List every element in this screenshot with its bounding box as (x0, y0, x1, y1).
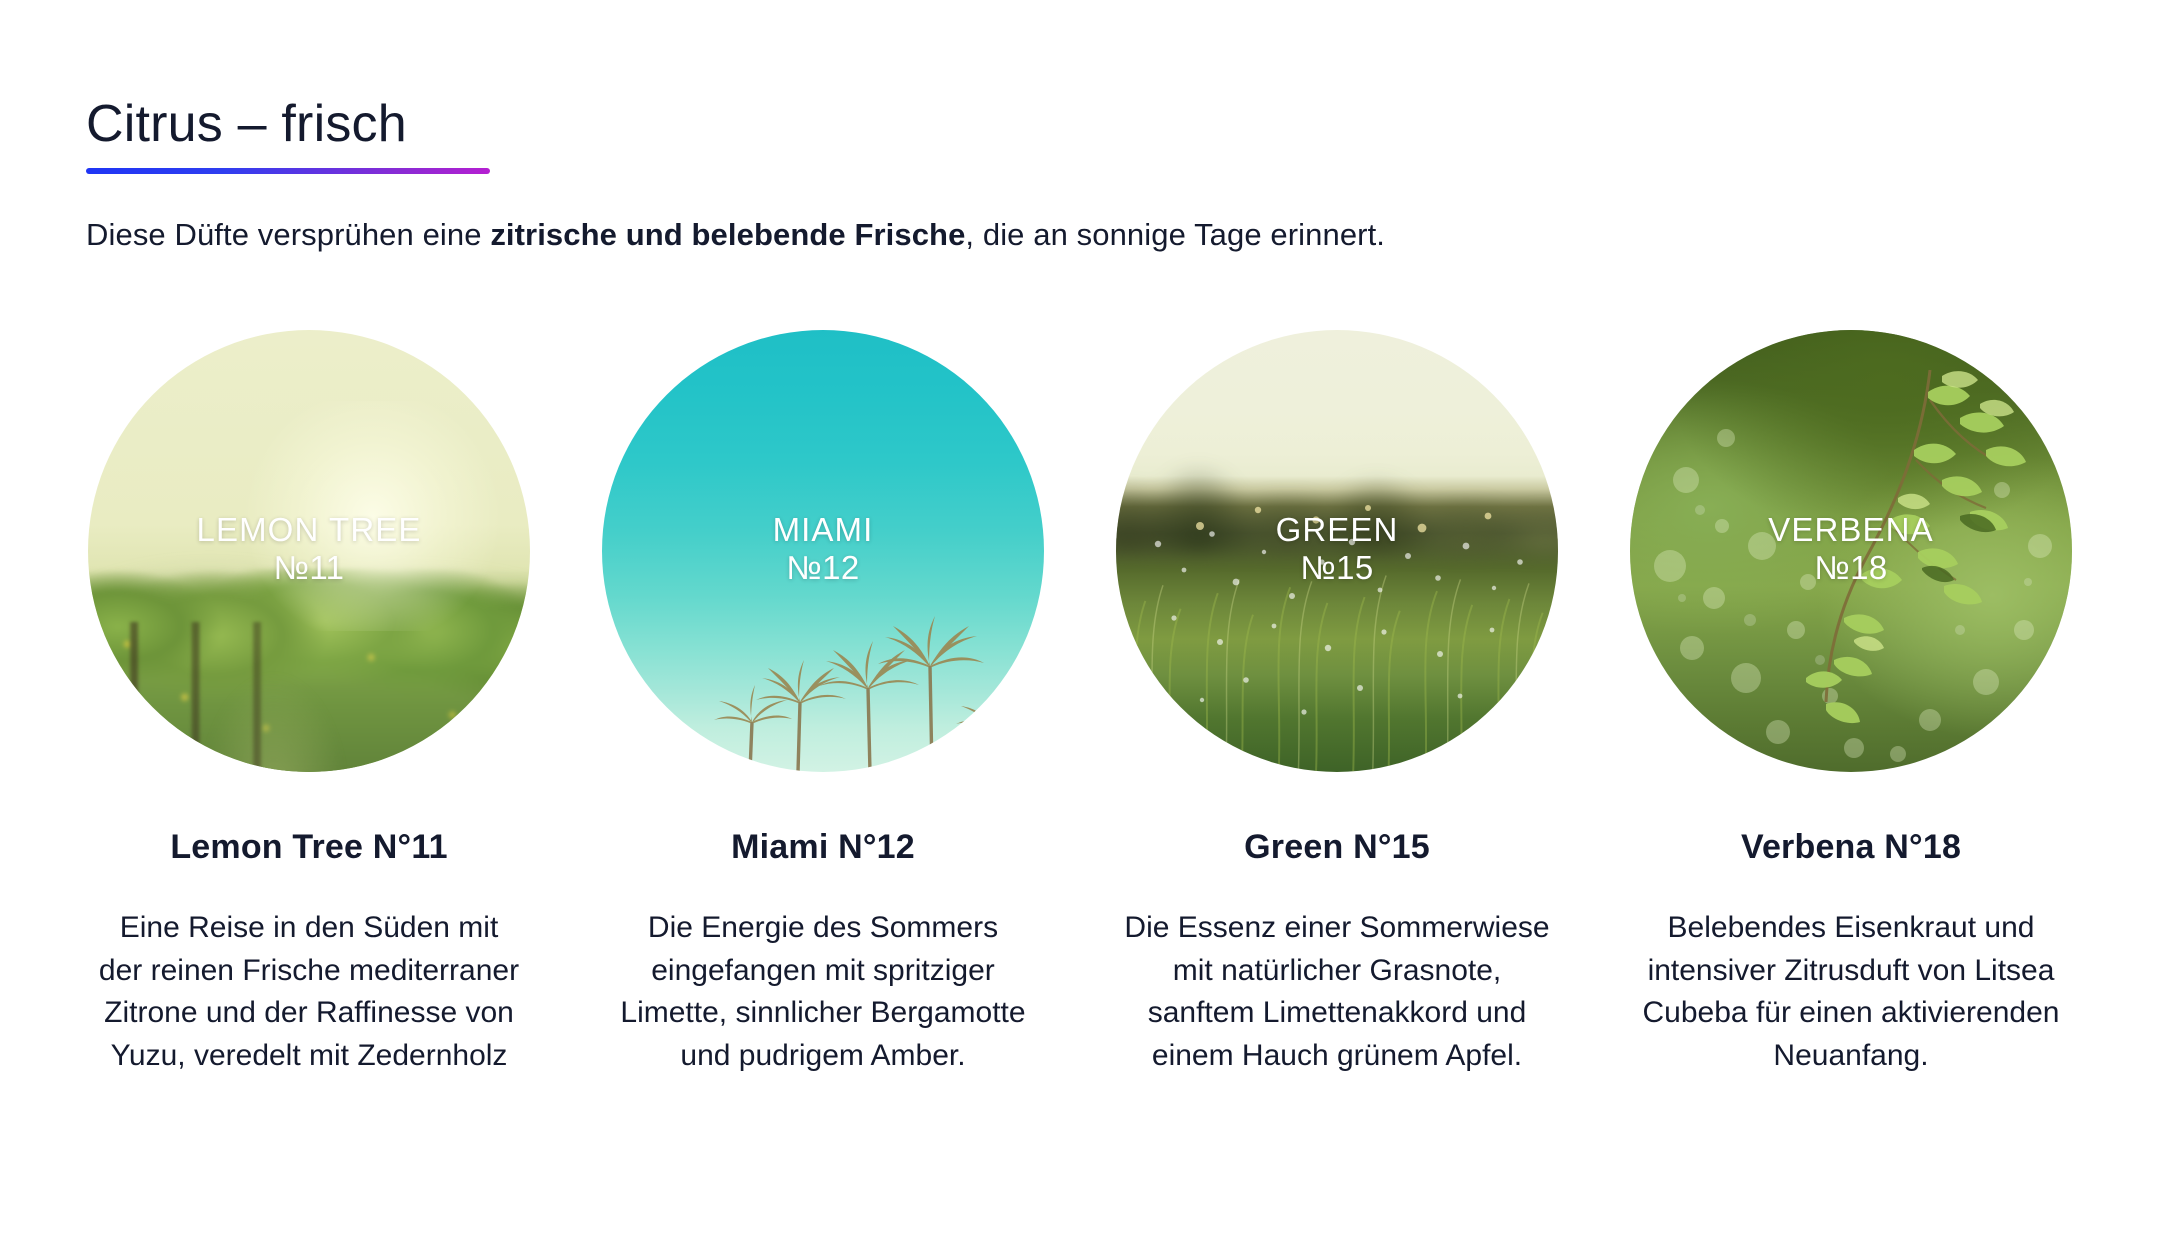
fragrance-card-miami[interactable]: MIAMI №12 Miami N°12 Die Energie des Som… (588, 330, 1058, 1077)
fragrance-description: Eine Reise in den Süden mit der reinen F… (94, 907, 524, 1077)
fragrance-title: Verbena N°18 (1741, 828, 1961, 867)
fragrance-description: Die Essenz einer Sommerwiese mit natürli… (1122, 907, 1552, 1077)
dew-drops-decor (1116, 330, 1558, 772)
fragrance-title: Green N°15 (1244, 828, 1430, 867)
subtitle-text-after: , die an sonnige Tage erinnert. (965, 217, 1385, 252)
sun-glow-decor (236, 401, 510, 631)
title-underline-rule (86, 168, 490, 174)
lemon-orchard-photo (88, 330, 530, 772)
fragrance-description: Belebendes Eisenkraut und intensiver Zit… (1636, 907, 2066, 1077)
fragrance-title: Lemon Tree N°11 (170, 828, 447, 867)
dewy-meadow-photo (1116, 330, 1558, 772)
palm-trees-teal-sky-photo (602, 330, 1044, 772)
green-foliage-bokeh-photo (1630, 330, 2072, 772)
fragrance-card-grid: LEMON TREE №11 Lemon Tree N°11 Eine Reis… (74, 330, 2086, 1077)
fragrance-card-verbena[interactable]: VERBENA №18 Verbena N°18 Belebendes Eise… (1616, 330, 2086, 1077)
leaf-branch-decor (1630, 330, 2072, 772)
fragrance-card-green[interactable]: GREEN №15 Green N°15 Die Essenz einer So… (1102, 330, 1572, 1077)
fragrance-card-lemon-tree[interactable]: LEMON TREE №11 Lemon Tree N°11 Eine Reis… (74, 330, 544, 1077)
subtitle-text-before: Diese Düfte versprühen eine (86, 217, 490, 252)
page-title: Citrus – frisch (86, 96, 2046, 152)
page-subtitle: Diese Düfte versprühen eine zitrische un… (86, 214, 2046, 256)
fragrance-category-page: Citrus – frisch Diese Düfte versprühen e… (0, 0, 2160, 1258)
fragrance-image-miami[interactable]: MIAMI №12 (602, 330, 1044, 772)
fragrance-image-green[interactable]: GREEN №15 (1116, 330, 1558, 772)
fragrance-description: Die Energie des Sommers eingefangen mit … (608, 907, 1038, 1077)
subtitle-text-emphasis: zitrische und belebende Frische (490, 217, 965, 252)
fragrance-image-lemon-tree[interactable]: LEMON TREE №11 (88, 330, 530, 772)
tree-trunks-decor (106, 622, 362, 772)
fragrance-title: Miami N°12 (731, 828, 915, 867)
palm-trees-decor (602, 330, 1044, 772)
fragrance-image-verbena[interactable]: VERBENA №18 (1630, 330, 2072, 772)
page-header: Citrus – frisch Diese Düfte versprühen e… (86, 96, 2046, 256)
